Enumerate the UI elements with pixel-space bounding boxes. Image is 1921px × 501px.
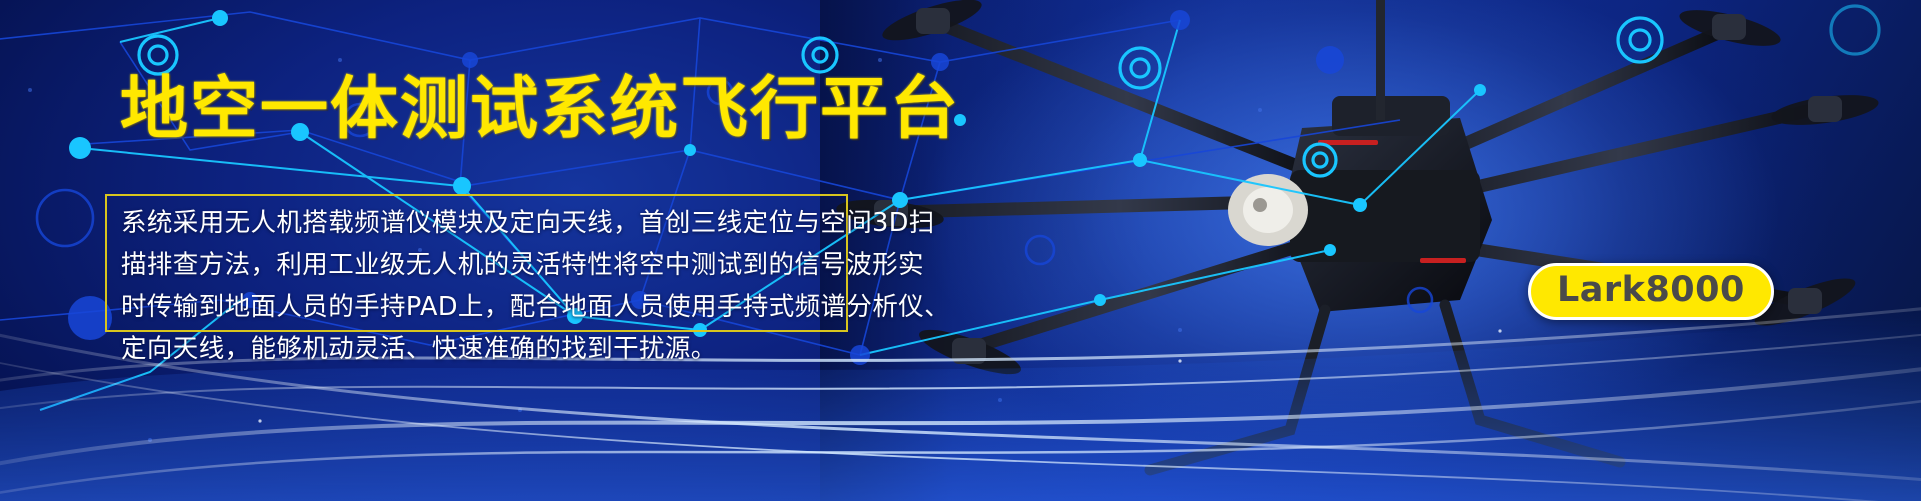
product-model-badge: Lark8000 bbox=[1528, 263, 1774, 320]
banner-title: 地空一体测试系统飞行平台 bbox=[120, 74, 960, 145]
description-text: 系统采用无人机搭载频谱仪模块及定向天线，首创三线定位与空间3D扫 描排查方法，利… bbox=[121, 202, 832, 370]
description-line-2: 描排查方法，利用工业级无人机的灵活特性将空中测试到的信号波形实 bbox=[121, 244, 832, 286]
description-line-3: 时传输到地面人员的手持PAD上，配合地面人员使用手持式频谱分析仪、 bbox=[121, 286, 832, 328]
description-box: 系统采用无人机搭载频谱仪模块及定向天线，首创三线定位与空间3D扫 描排查方法，利… bbox=[105, 194, 848, 332]
drone-photo-background bbox=[820, 0, 1921, 501]
description-line-4: 定向天线，能够机动灵活、快速准确的找到干扰源。 bbox=[121, 328, 832, 370]
product-banner: 地空一体测试系统飞行平台 系统采用无人机搭载频谱仪模块及定向天线，首创三线定位与… bbox=[0, 0, 1921, 501]
description-line-1: 系统采用无人机搭载频谱仪模块及定向天线，首创三线定位与空间3D扫 bbox=[121, 202, 832, 244]
